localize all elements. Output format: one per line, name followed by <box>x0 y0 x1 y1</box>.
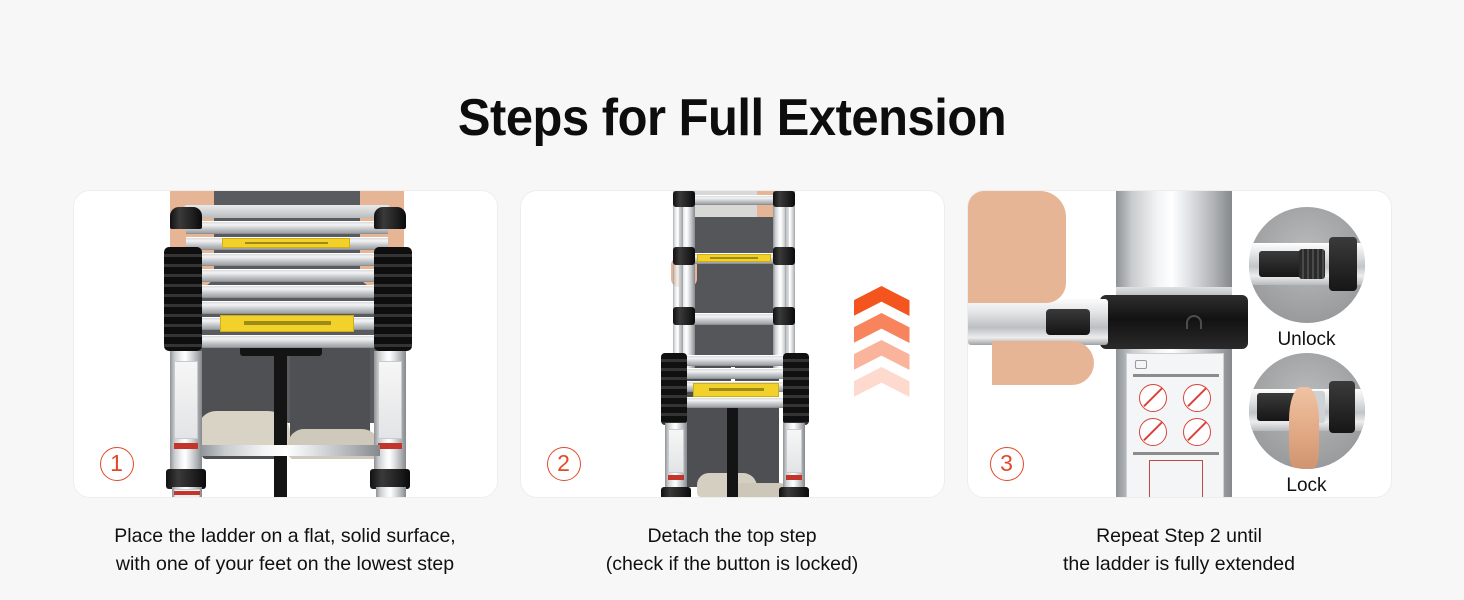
caption-line-2: (check if the button is locked) <box>520 550 945 578</box>
step-badge-3: 3 <box>990 447 1024 481</box>
caption-line-1: Repeat Step 2 until <box>967 522 1392 550</box>
inset-unlock-photo <box>1249 207 1365 323</box>
caption-line-1: Detach the top step <box>520 522 945 550</box>
inset-lock-label: Lock <box>1249 475 1365 497</box>
chevron-up-icon-2 <box>854 313 910 343</box>
inset-lock: Lock <box>1249 353 1365 497</box>
inset-unlock-label: Unlock <box>1249 329 1365 351</box>
finger-pressing-latch <box>1289 387 1319 469</box>
inset-unlock: Unlock <box>1249 207 1365 351</box>
step-image-card-1: 1 <box>73 190 498 498</box>
lock-arc-marking <box>1186 315 1202 329</box>
step-image-card-3: Unlock Lock 3 <box>967 190 1392 498</box>
ladder-photo-step-1 <box>74 191 497 497</box>
steps-panel-group: 1 Place the ladder on a flat, solid surf… <box>0 190 1464 578</box>
chevron-up-icon-3 <box>854 340 910 370</box>
up-arrow-chevrons <box>854 286 910 398</box>
step-panel-3: Unlock Lock 3 Repeat Step 2 until the la… <box>967 190 1392 578</box>
warning-label-top <box>222 238 350 248</box>
rung-latch-button <box>1046 309 1090 335</box>
chevron-up-icon-4 <box>854 367 910 397</box>
step-caption-3: Repeat Step 2 until the ladder is fully … <box>967 522 1392 578</box>
step-caption-1: Place the ladder on a flat, solid surfac… <box>73 522 498 578</box>
step-badge-1: 1 <box>100 447 134 481</box>
caption-line-2: with one of your feet on the lowest step <box>73 550 498 578</box>
warning-label-bottom <box>220 315 354 332</box>
step-image-card-2: 2 <box>520 190 945 498</box>
chevron-up-icon-1 <box>854 286 910 316</box>
step-panel-1: 1 Place the ladder on a flat, solid surf… <box>73 190 498 578</box>
inset-lock-photo <box>1249 353 1365 469</box>
caption-line-1: Place the ladder on a flat, solid surfac… <box>73 522 498 550</box>
caption-line-2: the ladder is fully extended <box>967 550 1392 578</box>
step-badge-2: 2 <box>547 447 581 481</box>
step-panel-2: 2 Detach the top step (check if the butt… <box>520 190 945 578</box>
safety-warning-sticker <box>1126 353 1224 498</box>
step-caption-2: Detach the top step (check if the button… <box>520 522 945 578</box>
page-title: Steps for Full Extension <box>44 88 1420 148</box>
